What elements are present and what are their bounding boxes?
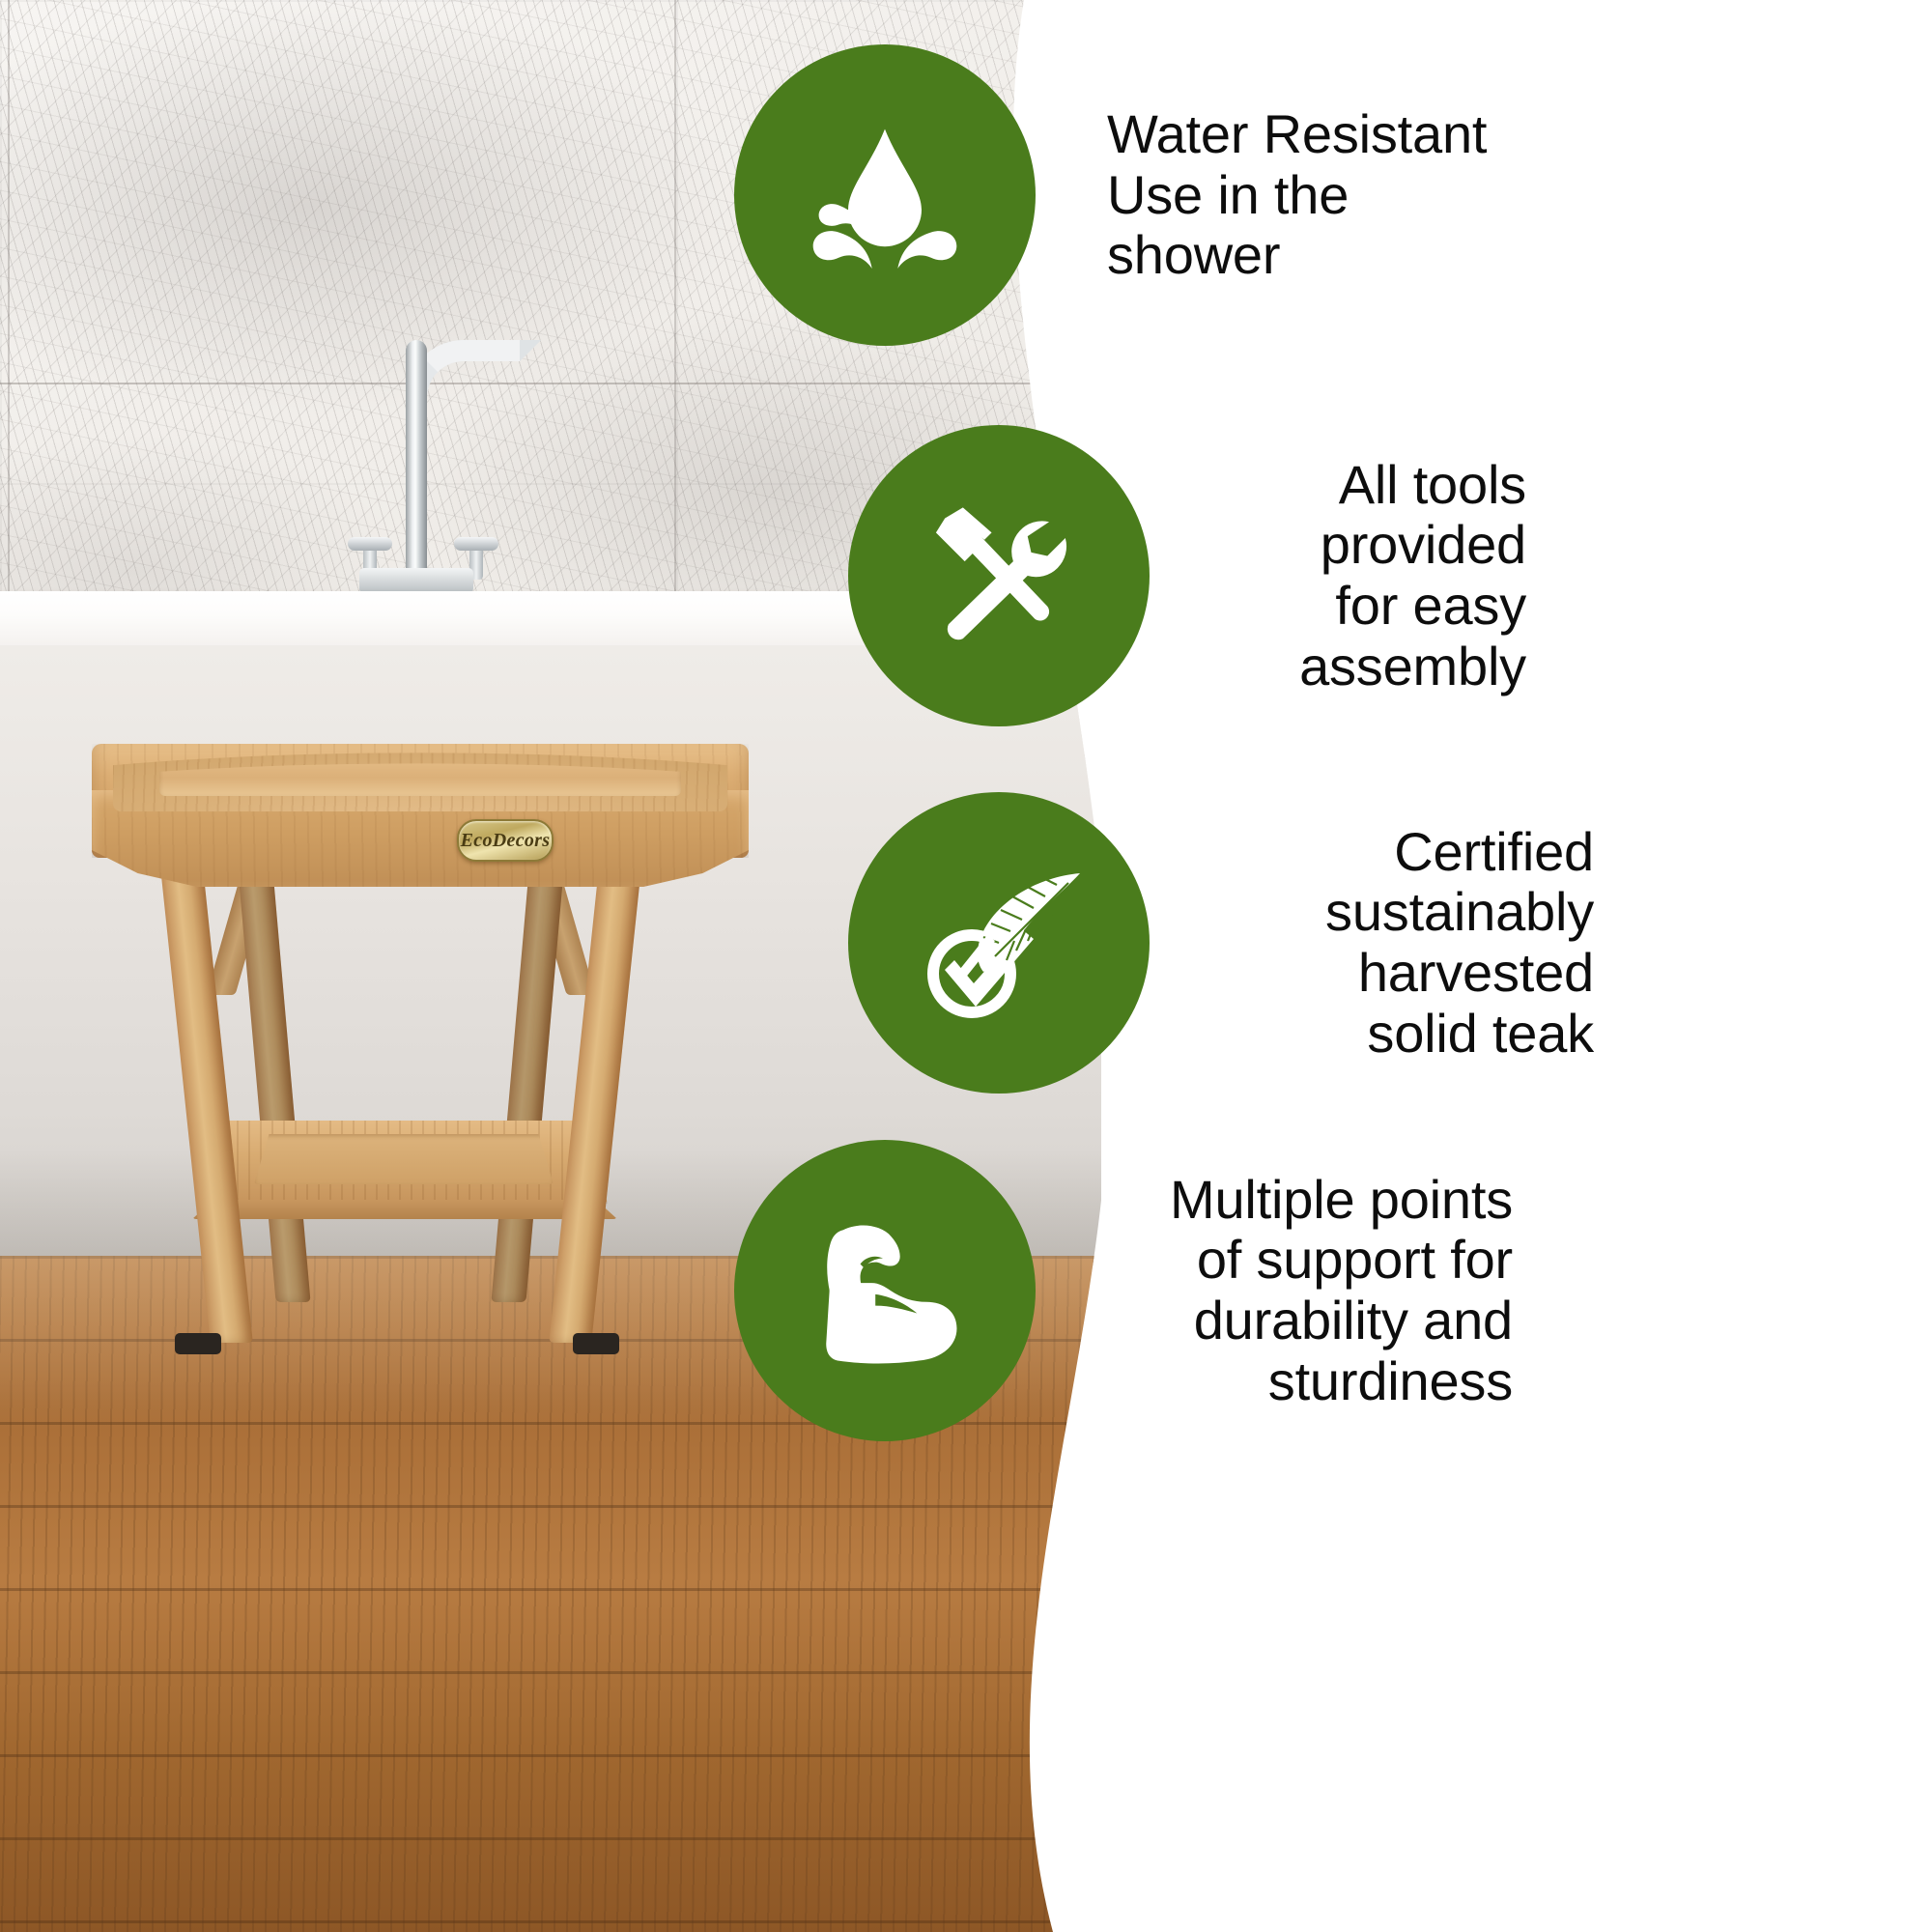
- feature-item-tools-included: All tools provided for easy assembly: [848, 425, 1526, 726]
- leaf-check-icon: [902, 846, 1095, 1039]
- faucet-handle: [348, 537, 392, 551]
- hammer-wrench-icon: [909, 486, 1089, 666]
- faucet-handle: [454, 537, 498, 551]
- feature-label: Certified sustainably harvested solid te…: [1207, 822, 1594, 1065]
- faucet-spout: [406, 340, 427, 582]
- infographic-canvas: EcoDecors Water Resistant Use in the sho…: [0, 0, 1932, 1932]
- faucet-base: [359, 568, 473, 593]
- feature-item-water-resistant: Water Resistant Use in the shower: [734, 44, 1493, 346]
- brand-logo-text: EcoDecors: [461, 830, 551, 852]
- stool-foot-left: [175, 1333, 221, 1354]
- brand-logo-plate: EcoDecors: [457, 819, 554, 862]
- feature-badge: [734, 44, 1036, 346]
- feature-item-sustainable-teak: Certified sustainably harvested solid te…: [848, 792, 1594, 1094]
- stool-shelf-rail: [192, 1200, 617, 1219]
- teak-shower-stool: EcoDecors: [92, 734, 749, 1410]
- feature-item-durability: Multiple points of support for durabilit…: [734, 1140, 1513, 1441]
- feature-label: Multiple points of support for durabilit…: [1097, 1170, 1513, 1412]
- stool-leg-back-left: [236, 848, 310, 1302]
- stool-shelf-panel: [254, 1134, 554, 1184]
- feature-label: All tools provided for easy assembly: [1207, 455, 1526, 697]
- stool-foot-right: [573, 1333, 619, 1354]
- flexed-bicep-icon: [790, 1196, 980, 1385]
- feature-badge: [848, 425, 1150, 726]
- stool-leg-back-right: [491, 848, 565, 1302]
- feature-badge: [734, 1140, 1036, 1441]
- feature-badge: [848, 792, 1150, 1094]
- feature-label: Water Resistant Use in the shower: [1107, 104, 1493, 286]
- water-drop-icon: [793, 103, 977, 287]
- feature-list: Water Resistant Use in the shower All: [734, 0, 1932, 1932]
